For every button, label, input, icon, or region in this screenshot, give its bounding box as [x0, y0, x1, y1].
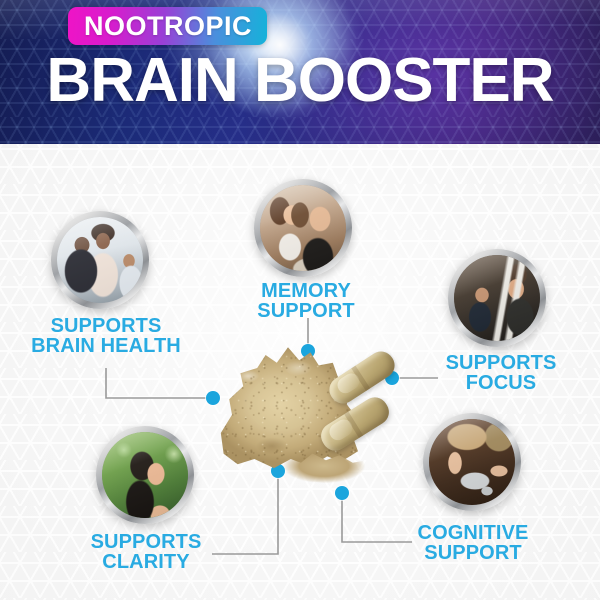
benefit-label-supports-clarity: SUPPORTS CLARITY	[91, 532, 202, 573]
header-banner: NOOTROPIC BRAIN BOOSTER	[0, 0, 600, 144]
nootropic-badge: NOOTROPIC	[68, 7, 267, 45]
powder-grain-texture	[218, 342, 358, 472]
photo-jigsaw-puzzle-hands	[429, 419, 515, 505]
benefit-label-brain-health: SUPPORTS BRAIN HEALTH	[31, 316, 181, 357]
benefit-label-cognitive-support: COGNITIVE SUPPORT	[418, 523, 529, 564]
benefit-label-memory-support: MEMORY SUPPORT	[257, 281, 354, 322]
benefit-photo-cognitive-support	[429, 419, 515, 505]
brain-booster-infographic: NOOTROPIC BRAIN BOOSTER	[0, 0, 600, 600]
capsule-upper-band	[351, 365, 371, 391]
capsule-lower-band	[344, 411, 364, 438]
benefit-photo-supports-focus	[454, 255, 540, 341]
benefit-circle-supports-clarity	[96, 426, 194, 524]
benefit-circle-brain-health	[51, 211, 149, 309]
photo-woman-and-elderly-man	[260, 185, 346, 271]
benefit-circle-supports-focus	[448, 249, 546, 347]
page-title: BRAIN BOOSTER	[0, 50, 600, 112]
benefit-circle-cognitive-support	[423, 413, 521, 511]
photo-office-group	[57, 217, 143, 303]
benefit-photo-brain-health	[57, 217, 143, 303]
benefit-circle-memory-support	[254, 179, 352, 277]
photo-woman-in-nature	[102, 432, 188, 518]
benefit-label-supports-focus: SUPPORTS FOCUS	[446, 353, 557, 394]
benefit-photo-supports-clarity	[102, 432, 188, 518]
product-image-powder-and-capsules	[218, 330, 398, 500]
nootropic-badge-label: NOOTROPIC	[84, 13, 252, 40]
benefit-photo-memory-support	[260, 185, 346, 271]
photo-people-at-computers	[454, 255, 540, 341]
capsule-upper	[324, 347, 399, 409]
herbal-powder-pile	[218, 342, 358, 472]
